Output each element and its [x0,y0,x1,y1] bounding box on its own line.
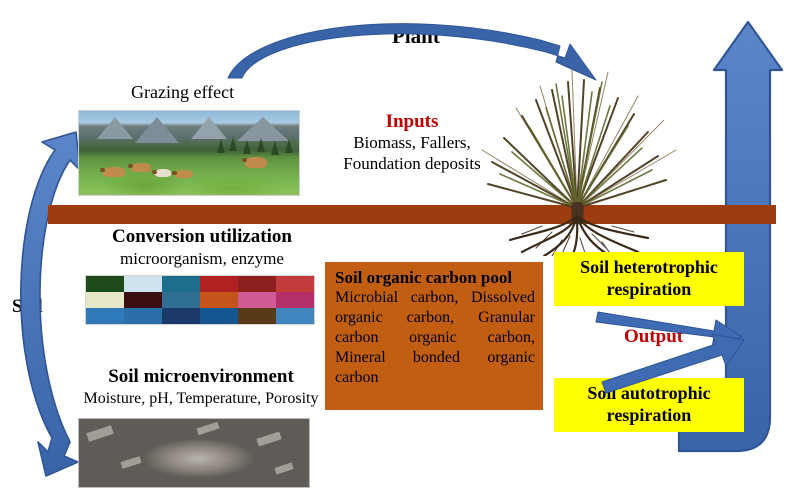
diagram-canvas: Plant Grazing effect Soil Inputs Biomass… [0,0,800,492]
output-arrow-autotrophic [602,334,744,393]
output-arrow-layer [0,0,800,492]
